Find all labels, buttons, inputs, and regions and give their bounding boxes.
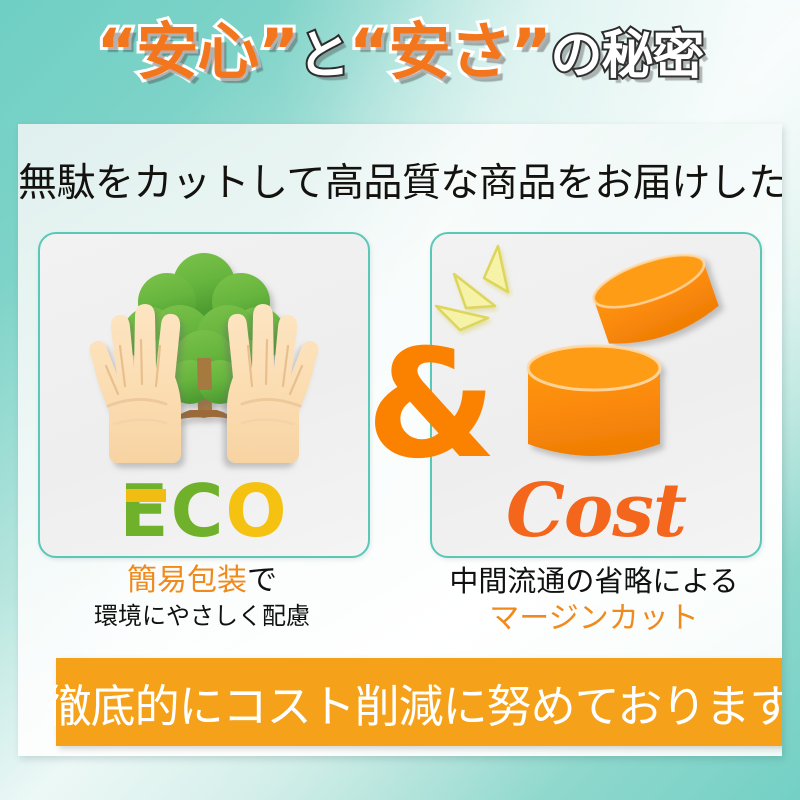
caption-eco-accent: 簡易包装 <box>127 563 247 598</box>
eco-letter-c: C <box>171 469 226 553</box>
bottom-banner-text: 徹底的にコスト削減に努めております <box>47 670 782 735</box>
caption-eco: 簡易包装で 環境にやさしく配慮 <box>32 562 372 632</box>
caption-eco-line1: 簡易包装で <box>32 562 372 600</box>
headline: “安心”と“安さ”の秘密 <box>0 16 800 87</box>
headline-accent-yasusa: “安さ” <box>349 15 551 88</box>
caption-eco-line2: 環境にやさしく配慮 <box>32 600 372 632</box>
eco-letter-o: O <box>225 469 288 553</box>
card-eco[interactable]: ECO <box>38 232 370 558</box>
headline-tail-himitsu: の秘密 <box>551 26 704 86</box>
caption-cost: 中間流通の省略による マージンカット <box>424 562 764 638</box>
promo-poster: “安心”と“安さ”の秘密 無駄をカットして高品質な商品をお届けしたい! <box>0 0 800 800</box>
caption-eco-tail: で <box>247 563 277 598</box>
content-panel: 無駄をカットして高品質な商品をお届けしたい! <box>18 124 782 756</box>
caption-cost-line2: マージンカット <box>424 600 764 638</box>
hands-holding-tree-illustration <box>40 240 368 476</box>
headline-accent-anshin: “安心” <box>96 15 298 88</box>
ampersand-separator: & <box>366 330 434 480</box>
caption-cost-line1: 中間流通の省略による <box>424 562 764 600</box>
eco-wordmark: ECO <box>40 472 368 550</box>
cards-row: ECO & <box>18 232 782 554</box>
bottom-banner: 徹底的にコスト削減に努めております <box>56 658 782 746</box>
headline-connector: と <box>298 26 349 86</box>
panel-title: 無駄をカットして高品質な商品をお届けしたい! <box>18 152 782 208</box>
eco-letter-e: E <box>119 472 170 550</box>
